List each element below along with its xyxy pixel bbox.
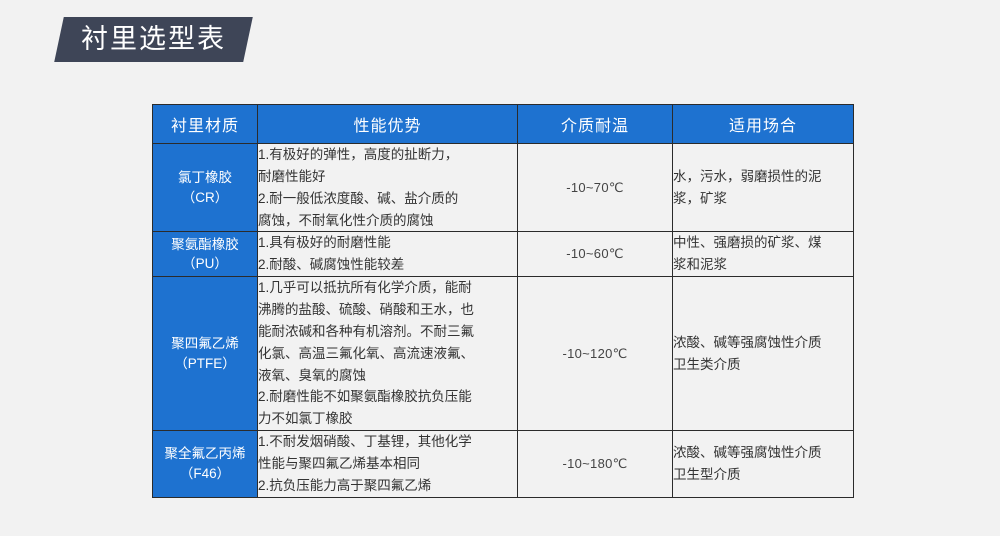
performance-line: 腐蚀，不耐氧化性介质的腐蚀 xyxy=(258,210,517,232)
cell-temperature: -10~120℃ xyxy=(518,277,673,431)
material-name: 氯丁橡胶 xyxy=(153,168,257,188)
cell-temperature: -10~60℃ xyxy=(518,232,673,277)
table-header-row: 衬里材质 性能优势 介质耐温 适用场合 xyxy=(153,105,854,144)
lining-selection-table: 衬里材质 性能优势 介质耐温 适用场合 氯丁橡胶 （CR） 1.有极好的弹性，高… xyxy=(152,104,854,498)
table-row: 聚氨酯橡胶 （PU） 1.具有极好的耐磨性能 2.耐酸、碱腐蚀性能较差 -10~… xyxy=(153,232,854,277)
performance-line: 1.具有极好的耐磨性能 xyxy=(258,232,517,254)
usage-line: 浓酸、碱等强腐蚀性介质 xyxy=(673,332,853,354)
cell-material: 聚全氟乙丙烯 （F46） xyxy=(153,431,258,498)
cell-performance: 1.几乎可以抵抗所有化学介质，能耐 沸腾的盐酸、硫酸、硝酸和王水，也 能耐浓碱和… xyxy=(258,277,518,431)
usage-line: 中性、强磨损的矿浆、煤 xyxy=(673,232,853,254)
cell-temperature: -10~180℃ xyxy=(518,431,673,498)
cell-usage: 水，污水，弱磨损性的泥 浆，矿浆 xyxy=(673,144,854,232)
material-abbreviation: （PU） xyxy=(153,254,257,274)
table-row: 聚四氟乙烯 （PTFE） 1.几乎可以抵抗所有化学介质，能耐 沸腾的盐酸、硫酸、… xyxy=(153,277,854,431)
cell-temperature: -10~70℃ xyxy=(518,144,673,232)
column-header-usage: 适用场合 xyxy=(673,105,854,144)
cell-usage: 浓酸、碱等强腐蚀性介质 卫生类介质 xyxy=(673,277,854,431)
performance-line: 力不如氯丁橡胶 xyxy=(258,408,517,430)
material-abbreviation: （PTFE） xyxy=(153,354,257,374)
performance-line: 2.抗负压能力高于聚四氟乙烯 xyxy=(258,475,517,497)
usage-line: 水，污水，弱磨损性的泥 xyxy=(673,166,853,188)
performance-line: 1.几乎可以抵抗所有化学介质，能耐 xyxy=(258,277,517,299)
page-title-banner: 衬里选型表 xyxy=(54,17,253,62)
cell-performance: 1.具有极好的耐磨性能 2.耐酸、碱腐蚀性能较差 xyxy=(258,232,518,277)
material-abbreviation: （CR） xyxy=(153,188,257,208)
performance-line: 耐磨性能好 xyxy=(258,166,517,188)
material-name: 聚四氟乙烯 xyxy=(153,334,257,354)
column-header-temperature: 介质耐温 xyxy=(518,105,673,144)
cell-usage: 中性、强磨损的矿浆、煤 浆和泥浆 xyxy=(673,232,854,277)
usage-line: 卫生类介质 xyxy=(673,354,853,376)
table-row: 聚全氟乙丙烯 （F46） 1.不耐发烟硝酸、丁基锂，其他化学 性能与聚四氟乙烯基… xyxy=(153,431,854,498)
usage-line: 浆和泥浆 xyxy=(673,254,853,276)
cell-performance: 1.不耐发烟硝酸、丁基锂，其他化学 性能与聚四氟乙烯基本相同 2.抗负压能力高于… xyxy=(258,431,518,498)
performance-line: 2.耐一般低浓度酸、碱、盐介质的 xyxy=(258,188,517,210)
page-title: 衬里选型表 xyxy=(81,26,226,53)
table-row: 氯丁橡胶 （CR） 1.有极好的弹性，高度的扯断力， 耐磨性能好 2.耐一般低浓… xyxy=(153,144,854,232)
usage-line: 浆，矿浆 xyxy=(673,188,853,210)
material-name: 聚氨酯橡胶 xyxy=(153,235,257,255)
performance-line: 1.不耐发烟硝酸、丁基锂，其他化学 xyxy=(258,431,517,453)
performance-line: 性能与聚四氟乙烯基本相同 xyxy=(258,453,517,475)
material-name: 聚全氟乙丙烯 xyxy=(153,444,257,464)
cell-usage: 浓酸、碱等强腐蚀性介质 卫生型介质 xyxy=(673,431,854,498)
column-header-material: 衬里材质 xyxy=(153,105,258,144)
material-abbreviation: （F46） xyxy=(153,464,257,484)
usage-line: 浓酸、碱等强腐蚀性介质 xyxy=(673,442,853,464)
performance-line: 沸腾的盐酸、硫酸、硝酸和王水，也 xyxy=(258,299,517,321)
cell-material: 聚氨酯橡胶 （PU） xyxy=(153,232,258,277)
performance-line: 能耐浓碱和各种有机溶剂。不耐三氟 xyxy=(258,321,517,343)
column-header-performance: 性能优势 xyxy=(258,105,518,144)
cell-material: 聚四氟乙烯 （PTFE） xyxy=(153,277,258,431)
performance-line: 化氯、高温三氟化氧、高流速液氟、 xyxy=(258,343,517,365)
performance-line: 2.耐酸、碱腐蚀性能较差 xyxy=(258,254,517,276)
usage-line: 卫生型介质 xyxy=(673,464,853,486)
performance-line: 2.耐磨性能不如聚氨酯橡胶抗负压能 xyxy=(258,386,517,408)
cell-material: 氯丁橡胶 （CR） xyxy=(153,144,258,232)
lining-selection-table-container: 衬里材质 性能优势 介质耐温 适用场合 氯丁橡胶 （CR） 1.有极好的弹性，高… xyxy=(152,104,853,498)
performance-line: 液氧、臭氧的腐蚀 xyxy=(258,365,517,387)
performance-line: 1.有极好的弹性，高度的扯断力， xyxy=(258,144,517,166)
cell-performance: 1.有极好的弹性，高度的扯断力， 耐磨性能好 2.耐一般低浓度酸、碱、盐介质的 … xyxy=(258,144,518,232)
